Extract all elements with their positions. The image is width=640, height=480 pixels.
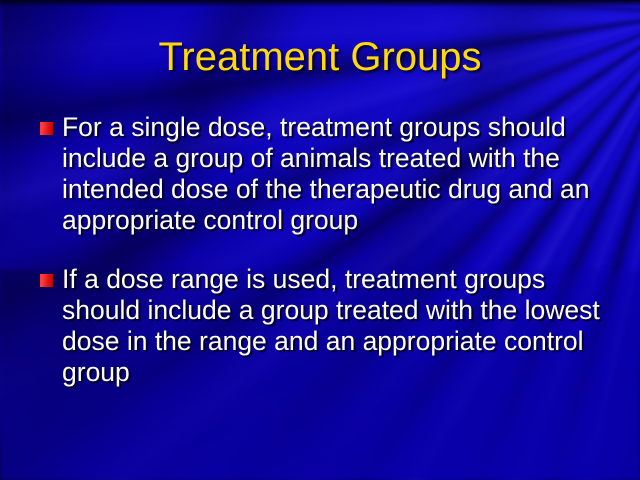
slide-content: Treatment Groups For a single dose, trea… xyxy=(0,0,640,480)
presentation-slide: Treatment Groups For a single dose, trea… xyxy=(0,0,640,480)
bullet-item-text: If a dose range is used, treatment group… xyxy=(62,264,602,388)
bullet-item: If a dose range is used, treatment group… xyxy=(34,264,630,388)
bullet-list: For a single dose, treatment groups shou… xyxy=(34,112,630,416)
slide-title: Treatment Groups xyxy=(0,34,640,80)
red-square-bullet-icon xyxy=(40,122,53,135)
red-square-bullet-icon xyxy=(40,274,53,287)
bullet-item: For a single dose, treatment groups shou… xyxy=(34,112,630,236)
bullet-item-text: For a single dose, treatment groups shou… xyxy=(62,112,602,236)
